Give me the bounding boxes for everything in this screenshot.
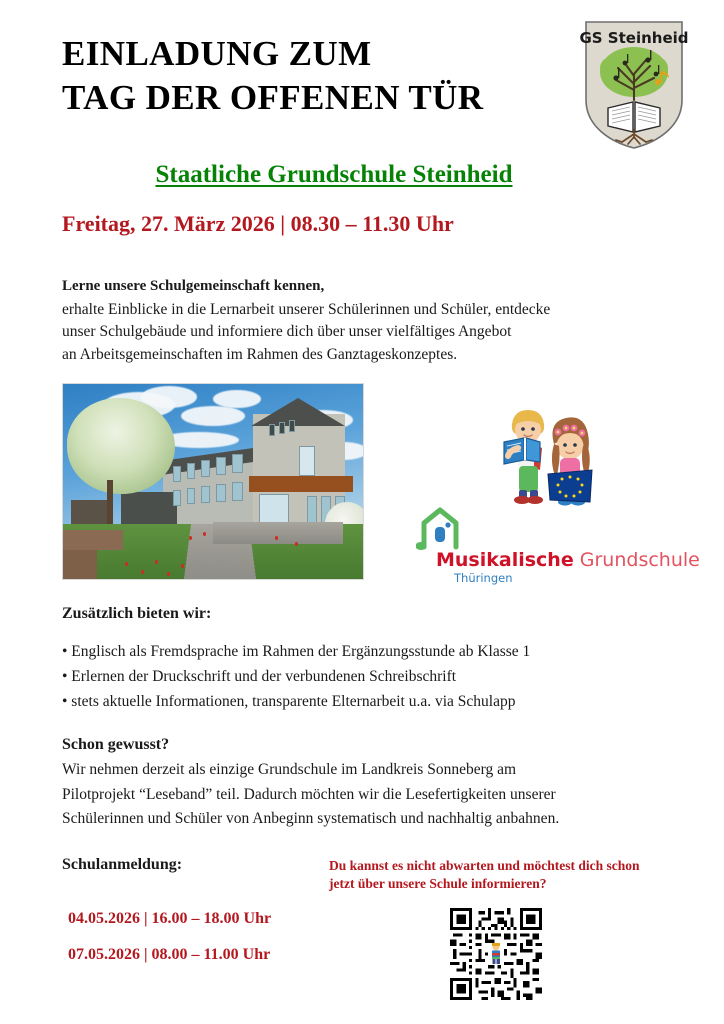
flower [203,532,206,536]
flower [181,564,184,568]
intro-paragraph: Lerne unsere Schulgemeinschaft kennen, e… [62,275,662,366]
mg-wordmark: Musikalische Grundschule [436,550,700,570]
window [173,490,181,506]
window [289,420,295,432]
mg-word-bold: Musikalische [436,549,574,571]
body-line: Pilotprojekt “Leseband” teil. Dadurch mö… [62,783,672,808]
cta-line: jetzt über unsere Schule informieren? [329,875,699,893]
did-you-know-heading: Schon gewusst? [62,736,169,754]
building-annex [121,492,177,528]
building-shed [71,500,109,526]
mg-word-light: Grundschule [574,549,700,571]
event-date-time: Freitag, 27. März 2026 | 08.30 – 11.30 U… [62,211,454,237]
title-line-2: TAG DER OFFENEN TÜR [62,76,562,120]
window [187,488,195,504]
poster-page: EINLADUNG ZUM TAG DER OFFENEN TÜR [0,0,724,1024]
did-you-know-body: Wir nehmen derzeit als einzige Grundschu… [62,758,672,832]
musikalische-grundschule-logo: Musikalische Grundschule Thüringen [416,505,656,583]
intro-line: unser Schulgebäude und informiere dich ü… [62,321,662,344]
call-to-action-text: Du kannst es nicht abwarten und möchtest… [329,857,699,893]
gable-roof-triangle [251,398,345,426]
window [187,463,195,479]
intro-lead: Lerne unsere Schulgemeinschaft kennen, [62,275,662,298]
qr-code[interactable] [450,908,542,1000]
window [173,466,181,482]
window [216,457,226,475]
school-name-heading: Staatliche Grundschule Steinheid [0,161,668,189]
title-line-1: EINLADUNG ZUM [62,32,562,76]
stone-wall [63,530,123,550]
flower [125,562,128,566]
flower [141,570,144,574]
registration-heading: Schulanmeldung: [62,856,182,874]
window [232,454,243,473]
offerings-list: • Englisch als Fremdsprache im Rahmen de… [62,639,662,714]
school-crest-logo: GS Steinheid [578,16,690,152]
window [216,484,226,502]
window [201,460,210,477]
entrance-canopy [249,476,353,492]
window [232,482,243,501]
body-line: Wir nehmen derzeit als einzige Grundschu… [62,758,672,783]
flower [189,536,192,540]
boy-figure [504,410,544,504]
girl-figure [548,417,592,505]
crest-label: GS Steinheid [579,29,688,47]
flower [155,560,158,564]
stone-wall [63,550,97,580]
body-line: Schülerinnen und Schüler von Anbeginn sy… [62,807,672,832]
intro-line: erhalte Einblicke in die Lernarbeit unse… [62,299,662,322]
window [299,446,315,476]
driveway [213,522,343,544]
window [307,496,317,524]
list-item: • Erlernen der Druckschrift und der verb… [62,664,662,689]
window [201,486,210,503]
blossom-tree [67,398,175,494]
flower [167,572,170,576]
intro-line: an Arbeitsgemeinschaften im Rahmen des G… [62,344,662,367]
mg-subtitle: Thüringen [454,571,512,585]
school-building-photo [62,383,364,580]
registration-date: 07.05.2026 | 08.00 – 11.00 Uhr [68,946,270,964]
offerings-heading: Zusätzlich bieten wir: [62,605,211,623]
window [269,424,275,436]
qr-center-mascot [488,943,504,965]
cta-line: Du kannst es nicht abwarten und möchtest… [329,857,699,875]
flower [295,542,298,546]
flower [275,536,278,540]
list-item: • stets aktuelle Informationen, transpar… [62,689,662,714]
music-house-icon [416,505,464,551]
list-item: • Englisch als Fremdsprache im Rahmen de… [62,639,662,664]
registration-date: 04.05.2026 | 16.00 – 18.00 Uhr [68,910,271,928]
window [279,422,285,434]
cloud-shape [181,406,245,426]
page-title: EINLADUNG ZUM TAG DER OFFENEN TÜR [62,32,562,120]
